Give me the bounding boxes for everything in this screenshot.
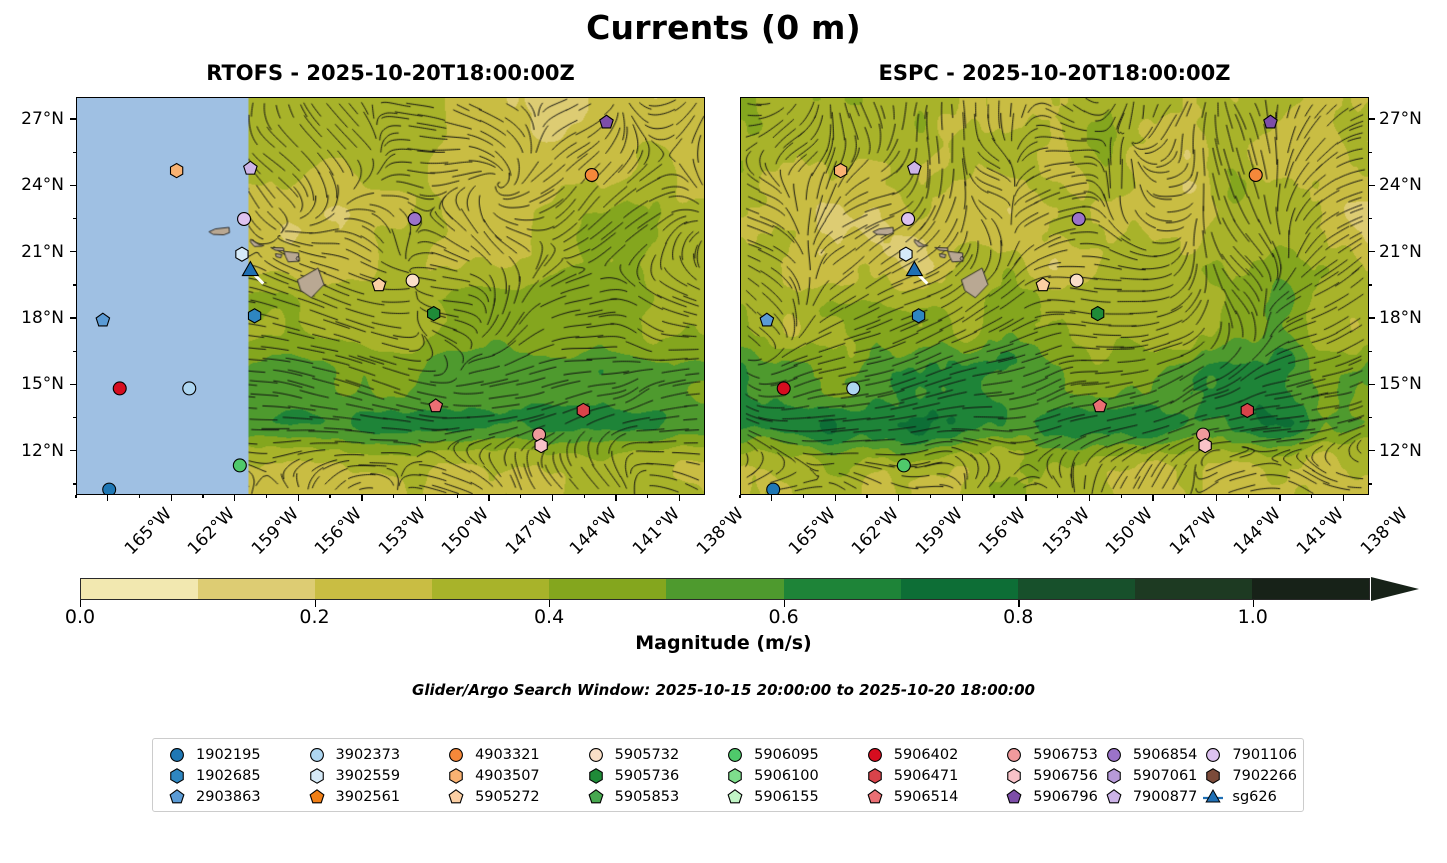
x-axis-label: 144°W [565, 504, 620, 559]
legend-marker-hexagon-icon [1004, 766, 1024, 786]
x-axis-label: 156°W [975, 504, 1030, 559]
colorbar-tick-label: 0.6 [769, 606, 799, 628]
x-axis-minor-tick [393, 495, 394, 498]
y-axis-minor-tick [1369, 284, 1372, 285]
legend-item-3902561[interactable]: 3902561 [301, 786, 441, 807]
marker-circle-5906402[interactable] [113, 382, 126, 395]
marker-pentagon-7900877[interactable] [908, 161, 921, 174]
x-axis-tick [1152, 495, 1153, 501]
marker-hexagon-4903507[interactable] [835, 164, 847, 178]
colorbar-band [1018, 579, 1135, 599]
y-axis-tick [1369, 251, 1375, 252]
legend-marker-pentagon-icon [725, 787, 745, 807]
y-axis-label: 18°N [0, 308, 64, 328]
legend-marker-pentagon-icon [586, 787, 606, 807]
legend-item-4903507[interactable]: 4903507 [440, 766, 580, 787]
marker-circle-5906095[interactable] [897, 459, 910, 472]
legend-label: 5905732 [615, 747, 680, 763]
panel-title-rtofs: RTOFS - 2025-10-20T18:00:00Z [76, 61, 705, 85]
legend-label: 3902561 [336, 789, 401, 805]
x-axis-label: 144°W [1229, 504, 1284, 559]
colorbar-band [1135, 579, 1252, 599]
marker-circle-5906402[interactable] [777, 382, 790, 395]
y-axis-label: 27°N [0, 109, 64, 129]
colorbar-tick-label: 1.0 [1238, 606, 1268, 628]
y-axis-minor-tick [73, 483, 76, 484]
legend-label: 4903321 [475, 747, 540, 763]
legend-item-5906756[interactable]: 5906756 [998, 766, 1098, 787]
marker-circle-5905732[interactable] [1070, 274, 1083, 287]
legend-label: 5906796 [1033, 789, 1098, 805]
marker-circle-1902195[interactable] [103, 483, 116, 494]
y-axis-minor-tick [73, 417, 76, 418]
legend-marker-hexagon-icon [307, 766, 327, 786]
colorbar-extend-arrow [1371, 577, 1419, 601]
marker-circle-3902373[interactable] [183, 382, 196, 395]
marker-hexagon-3902559[interactable] [900, 247, 912, 261]
marker-pentagon-5906514[interactable] [429, 399, 442, 412]
x-axis-label: 138°W [1356, 504, 1411, 559]
marker-hexagon-1902685[interactable] [912, 309, 924, 323]
x-axis-minor-tick [457, 495, 458, 498]
x-axis-tick [298, 495, 299, 501]
x-axis-tick [361, 495, 362, 501]
x-axis-label: 153°W [1039, 504, 1094, 559]
x-axis-label: 141°W [629, 504, 684, 559]
x-axis-tick [234, 495, 235, 501]
marker-hexagon-5905736[interactable] [1092, 307, 1104, 321]
x-axis-minor-tick [930, 495, 931, 498]
x-axis-tick [835, 495, 836, 501]
y-axis-minor-tick [1369, 152, 1372, 153]
marker-circle-5906854[interactable] [1072, 213, 1085, 226]
legend-marker-hexagon-icon [586, 766, 606, 786]
legend-label: 5906471 [894, 768, 959, 784]
legend-label: 5905736 [615, 768, 680, 784]
legend-label: 7902266 [1232, 768, 1297, 784]
float-legend[interactable]: 1902195190268529038633902373390255939025… [152, 738, 1304, 812]
marker-overlay-rtofs [77, 98, 704, 494]
marker-hexagon-4903507[interactable] [171, 164, 183, 178]
legend-item-1902685[interactable]: 1902685 [161, 766, 301, 787]
x-axis-label: 165°W [121, 504, 176, 559]
legend-label: 5905272 [475, 789, 540, 805]
legend-item-7900877[interactable]: 7900877 [1098, 786, 1198, 807]
legend-item-3902559[interactable]: 3902559 [301, 766, 441, 787]
y-axis-tick [70, 185, 76, 186]
legend-item-5906155[interactable]: 5906155 [719, 786, 859, 807]
legend-item-5905272[interactable]: 5905272 [440, 786, 580, 807]
legend-label: 3902559 [336, 768, 401, 784]
y-axis-label: 18°N [1379, 308, 1447, 328]
marker-hexagon-5906756[interactable] [535, 439, 547, 453]
y-axis-tick [70, 251, 76, 252]
y-axis-tick [70, 384, 76, 385]
marker-circle-4903321[interactable] [1249, 169, 1262, 182]
legend-label: 5906100 [754, 768, 819, 784]
legend-marker-hexagon-icon [446, 766, 466, 786]
y-axis-minor-tick [73, 152, 76, 153]
colorbar-band [901, 579, 1018, 599]
y-axis-tick [70, 118, 76, 119]
x-axis-label: 147°W [502, 504, 557, 559]
y-axis-minor-tick [73, 218, 76, 219]
legend-item-sg626[interactable]: sg626 [1197, 786, 1297, 807]
legend-item-5906796[interactable]: 5906796 [998, 786, 1098, 807]
x-axis-minor-tick [329, 495, 330, 498]
colorbar-band [549, 579, 666, 599]
legend-marker-pentagon-icon [446, 787, 466, 807]
y-axis-label: 24°N [0, 175, 64, 195]
marker-circle-7901106[interactable] [238, 213, 251, 226]
x-axis-tick [107, 495, 108, 501]
legend-marker-pentagon-icon [1104, 787, 1124, 807]
legend-label: 1902195 [196, 747, 261, 763]
marker-circle-3902373[interactable] [847, 382, 860, 395]
legend-marker-circle-icon [1004, 745, 1024, 765]
x-axis-label: 162°W [184, 504, 239, 559]
legend-marker-pentagon-icon [307, 787, 327, 807]
legend-item-5906514[interactable]: 5906514 [859, 786, 999, 807]
y-axis-label: 15°N [0, 374, 64, 394]
y-axis-tick [1369, 118, 1375, 119]
map-panel-espc: ESPC - 2025-10-20T18:00:00Z [740, 97, 1369, 495]
map-panel-rtofs: RTOFS - 2025-10-20T18:00:00Z [76, 97, 705, 495]
x-axis-minor-tick [1057, 495, 1058, 498]
y-axis-minor-tick [73, 284, 76, 285]
x-axis-minor-tick [1311, 495, 1312, 498]
legend-item-5905732[interactable]: 5905732 [580, 745, 720, 766]
map-frame-espc[interactable] [740, 97, 1369, 495]
marker-pentagon-5906796[interactable] [1264, 115, 1277, 128]
legend-label: 4903507 [475, 768, 540, 784]
legend-marker-hexagon-icon [725, 766, 745, 786]
legend-label: 5906514 [894, 789, 959, 805]
colorbar-label: Magnitude (m/s) [0, 632, 1447, 654]
x-axis-tick [1343, 495, 1344, 501]
y-axis-label: 15°N [1379, 374, 1447, 394]
x-axis-minor-tick [803, 495, 804, 498]
colorbar-band [784, 579, 901, 599]
legend-label: 5905853 [615, 789, 680, 805]
legend-marker-pentagon-icon [167, 787, 187, 807]
legend-item-3902373[interactable]: 3902373 [301, 745, 441, 766]
legend-item-5906402[interactable]: 5906402 [859, 745, 999, 766]
legend-marker-circle-icon [446, 745, 466, 765]
x-axis-minor-tick [1121, 495, 1122, 498]
marker-hexagon-5906471[interactable] [1241, 403, 1253, 417]
legend-item-5906753[interactable]: 5906753 [998, 745, 1098, 766]
x-axis-tick [615, 495, 616, 501]
legend-marker-hexagon-icon [865, 766, 885, 786]
x-axis-minor-tick [1184, 495, 1185, 498]
x-axis-label: 138°W [692, 504, 747, 559]
x-axis-minor-tick [139, 495, 140, 498]
search-window-text: Glider/Argo Search Window: 2025-10-15 20… [0, 681, 1447, 699]
x-axis-tick [171, 495, 172, 501]
legend-marker-glider-icon [1203, 787, 1223, 807]
y-axis-tick [70, 450, 76, 451]
legend-item-5905736[interactable]: 5905736 [580, 766, 720, 787]
legend-marker-circle-icon [586, 745, 606, 765]
y-axis-minor-tick [1369, 351, 1372, 352]
legend-label: 3902373 [336, 747, 401, 763]
legend-marker-circle-icon [1203, 745, 1223, 765]
x-axis-tick [1216, 495, 1217, 501]
marker-glider-sg626[interactable] [242, 262, 263, 284]
x-axis-tick [425, 495, 426, 501]
y-axis-minor-tick [73, 351, 76, 352]
legend-label: 2903863 [196, 789, 261, 805]
legend-label: 1902685 [196, 768, 261, 784]
marker-glider-sg626[interactable] [906, 262, 927, 284]
x-axis-tick [898, 495, 899, 501]
y-axis-minor-tick [1369, 483, 1372, 484]
y-axis-tick [70, 317, 76, 318]
colorbar-band [315, 579, 432, 599]
x-axis-tick [679, 495, 680, 501]
x-axis-tick [1025, 495, 1026, 501]
x-axis-label: 162°W [848, 504, 903, 559]
x-axis-label: 150°W [1102, 504, 1157, 559]
y-axis-label: 21°N [0, 242, 64, 262]
x-axis-minor-tick [266, 495, 267, 498]
legend-item-1902195[interactable]: 1902195 [161, 745, 301, 766]
page-title: Currents (0 m) [0, 8, 1447, 47]
marker-overlay-espc [741, 98, 1368, 494]
colorbar-tick-label: 0.8 [1003, 606, 1033, 628]
marker-circle-5906095[interactable] [233, 459, 246, 472]
colorbar-tick-label: 0.2 [299, 606, 329, 628]
y-axis-tick [1369, 317, 1375, 318]
legend-label: sg626 [1232, 789, 1276, 805]
marker-circle-4903321[interactable] [585, 169, 598, 182]
colorbar-band [432, 579, 549, 599]
colorbar-band [81, 579, 198, 599]
legend-item-7902266[interactable]: 7902266 [1197, 766, 1297, 787]
x-axis-tick [488, 495, 489, 501]
x-axis-tick [771, 495, 772, 501]
marker-pentagon-5905272[interactable] [372, 278, 385, 291]
legend-marker-hexagon-icon [1104, 766, 1124, 786]
legend-marker-circle-icon [167, 745, 187, 765]
marker-circle-5906854[interactable] [408, 213, 421, 226]
marker-pentagon-5905272[interactable] [1036, 278, 1049, 291]
legend-marker-pentagon-icon [1004, 787, 1024, 807]
legend-marker-circle-icon [1104, 745, 1124, 765]
marker-pentagon-7900877[interactable] [244, 161, 257, 174]
marker-circle-7901106[interactable] [902, 213, 915, 226]
legend-label: 5906854 [1133, 747, 1198, 763]
map-frame-rtofs[interactable] [76, 97, 705, 495]
x-axis-label: 165°W [785, 504, 840, 559]
colorbar-band [1252, 579, 1369, 599]
x-axis-tick [552, 495, 553, 501]
y-axis-minor-tick [1369, 417, 1372, 418]
marker-hexagon-5906756[interactable] [1199, 439, 1211, 453]
legend-label: 5906095 [754, 747, 819, 763]
legend-label: 7900877 [1133, 789, 1198, 805]
colorbar-band [666, 579, 783, 599]
colorbar-tick-label: 0.0 [65, 606, 95, 628]
x-axis-minor-tick [75, 495, 76, 498]
x-axis-tick [962, 495, 963, 501]
legend-item-5906095[interactable]: 5906095 [719, 745, 859, 766]
legend-item-5907061[interactable]: 5907061 [1098, 766, 1198, 787]
marker-hexagon-5906471[interactable] [577, 403, 589, 417]
legend-label: 7901106 [1232, 747, 1297, 763]
y-axis-label: 12°N [0, 441, 64, 461]
marker-circle-1902195[interactable] [767, 483, 780, 494]
x-axis-minor-tick [993, 495, 994, 498]
legend-marker-pentagon-icon [865, 787, 885, 807]
colorbar-band [198, 579, 315, 599]
x-axis-label: 156°W [311, 504, 366, 559]
x-axis-tick [1279, 495, 1280, 501]
legend-marker-hexagon-icon [167, 766, 187, 786]
y-axis-minor-tick [1369, 218, 1372, 219]
colorbar-gradient[interactable] [80, 578, 1370, 600]
legend-item-2903863[interactable]: 2903863 [161, 786, 301, 807]
marker-pentagon-2903863[interactable] [96, 313, 109, 326]
y-axis-tick [1369, 384, 1375, 385]
legend-item-4903321[interactable]: 4903321 [440, 745, 580, 766]
legend-label: 5906402 [894, 747, 959, 763]
x-axis-label: 153°W [375, 504, 430, 559]
legend-label: 5906753 [1033, 747, 1098, 763]
legend-marker-circle-icon [725, 745, 745, 765]
x-axis-tick [1089, 495, 1090, 501]
marker-pentagon-2903863[interactable] [760, 313, 773, 326]
x-axis-label: 147°W [1166, 504, 1221, 559]
x-axis-minor-tick [202, 495, 203, 498]
y-axis-tick [1369, 185, 1375, 186]
legend-marker-circle-icon [307, 745, 327, 765]
x-axis-label: 141°W [1293, 504, 1348, 559]
panel-title-espc: ESPC - 2025-10-20T18:00:00Z [740, 61, 1369, 85]
legend-item-7901106[interactable]: 7901106 [1197, 745, 1297, 766]
marker-pentagon-5906796[interactable] [600, 115, 613, 128]
y-axis-label: 27°N [1379, 109, 1447, 129]
marker-hexagon-3902559[interactable] [236, 247, 248, 261]
colorbar-tick-label: 0.4 [534, 606, 564, 628]
y-axis-label: 21°N [1379, 242, 1447, 262]
marker-hexagon-5905736[interactable] [428, 307, 440, 321]
legend-item-5905853[interactable]: 5905853 [580, 786, 720, 807]
x-axis-minor-tick [1248, 495, 1249, 498]
legend-marker-hexagon-icon [1203, 766, 1223, 786]
x-axis-minor-tick [739, 495, 740, 498]
legend-label: 5906756 [1033, 768, 1098, 784]
y-axis-label: 12°N [1379, 441, 1447, 461]
x-axis-label: 150°W [438, 504, 493, 559]
y-axis-tick [1369, 450, 1375, 451]
marker-hexagon-1902685[interactable] [248, 309, 260, 323]
marker-pentagon-5906514[interactable] [1093, 399, 1106, 412]
legend-label: 5907061 [1133, 768, 1198, 784]
legend-label: 5906155 [754, 789, 819, 805]
x-axis-label: 159°W [248, 504, 303, 559]
legend-marker-circle-icon [865, 745, 885, 765]
marker-circle-5905732[interactable] [406, 274, 419, 287]
x-axis-minor-tick [584, 495, 585, 498]
x-axis-minor-tick [866, 495, 867, 498]
legend-item-5906100[interactable]: 5906100 [719, 766, 859, 787]
legend-item-5906854[interactable]: 5906854 [1098, 745, 1198, 766]
x-axis-minor-tick [520, 495, 521, 498]
x-axis-label: 159°W [912, 504, 967, 559]
legend-item-5906471[interactable]: 5906471 [859, 766, 999, 787]
y-axis-label: 24°N [1379, 175, 1447, 195]
colorbar[interactable] [80, 578, 1370, 600]
x-axis-minor-tick [647, 495, 648, 498]
legend-grid: 1902195190268529038633902373390255939025… [161, 745, 1297, 807]
